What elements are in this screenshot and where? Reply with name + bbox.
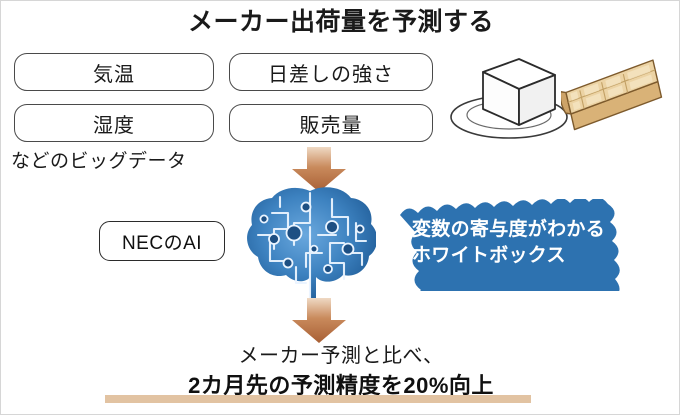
callout-line-1: 変数の寄与度がわかる bbox=[412, 217, 650, 243]
input-pill-sales-volume: 販売量 bbox=[229, 104, 433, 142]
input-pill-humidity: 湿度 bbox=[14, 104, 214, 142]
nec-ai-pill: NECのAI bbox=[99, 221, 225, 261]
whitebox-callout: 変数の寄与度がわかる ホワイトボックス bbox=[386, 199, 668, 291]
input-pill-sunlight-intensity: 日差しの強さ bbox=[229, 53, 433, 91]
input-pill-temperature-label: 気温 bbox=[93, 58, 135, 87]
input-pill-humidity-label: 湿度 bbox=[93, 109, 135, 138]
nec-ai-label: NECのAI bbox=[122, 228, 202, 255]
conclusion-line-1: メーカー予測と比べ、 bbox=[1, 339, 680, 368]
input-pill-sunlight-intensity-label: 日差しの強さ bbox=[268, 58, 394, 87]
arrow-down-icon bbox=[288, 298, 350, 344]
circuit-brain-icon bbox=[244, 183, 376, 303]
conclusion-underline-bar bbox=[105, 395, 531, 403]
ice-cube-icon bbox=[447, 45, 572, 149]
bigdata-footnote: などのビッグデータ bbox=[11, 146, 187, 173]
callout-text: 変数の寄与度がわかる ホワイトボックス bbox=[412, 217, 650, 268]
chocolate-bar-icon bbox=[561, 45, 676, 149]
page-title: メーカー出荷量を予測する bbox=[1, 7, 680, 37]
input-pill-sales-volume-label: 販売量 bbox=[300, 109, 363, 138]
infographic-canvas: メーカー出荷量を予測する 気温 湿度 日差しの強さ 販売量 などのビッグデータ bbox=[0, 0, 680, 415]
input-pill-temperature: 気温 bbox=[14, 53, 214, 91]
callout-line-2: ホワイトボックス bbox=[412, 243, 650, 269]
